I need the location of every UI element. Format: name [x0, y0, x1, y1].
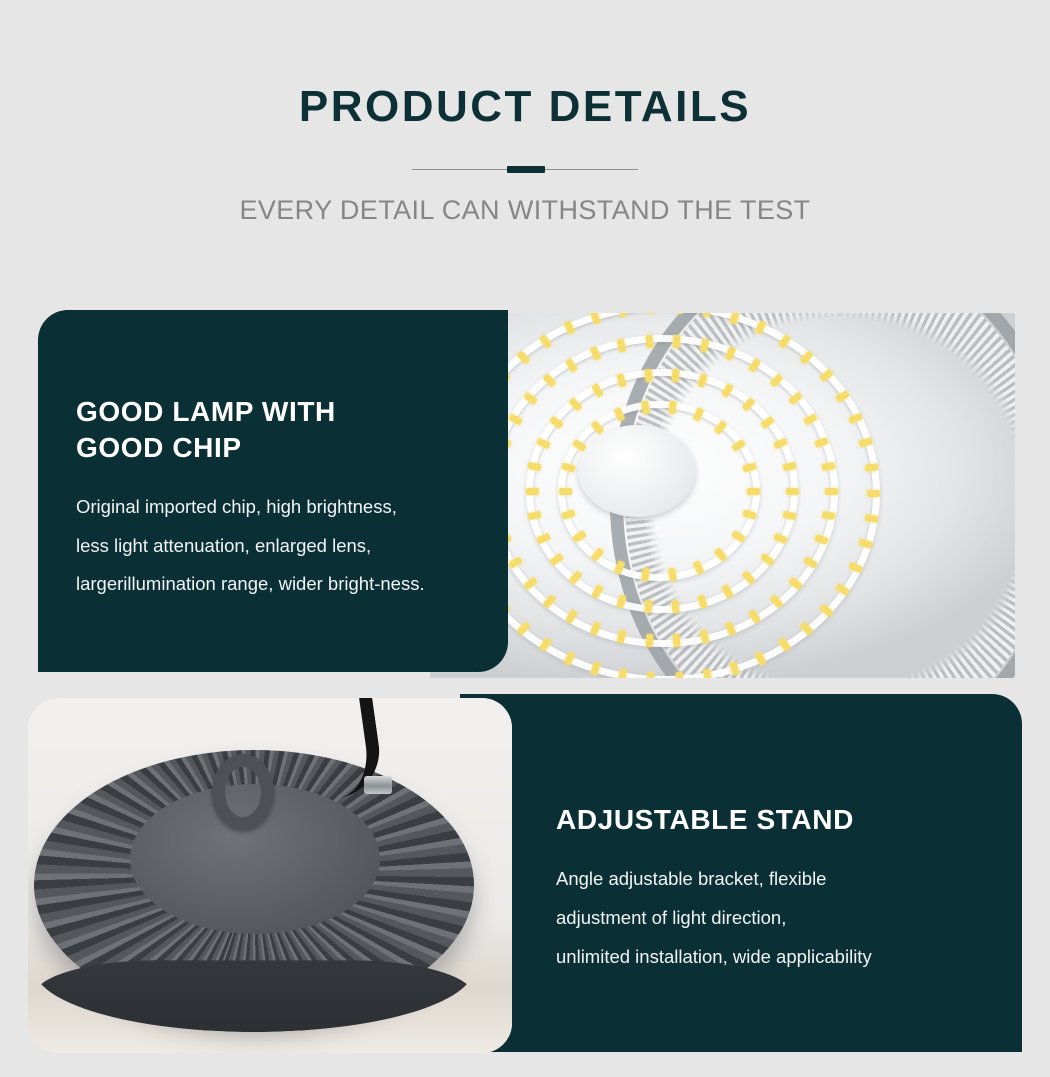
- led-lens-illustration: [430, 313, 1015, 678]
- page-header: PRODUCT DETAILS EVERY DETAIL CAN WITHSTA…: [0, 0, 1050, 227]
- led-chip-dot: [644, 600, 652, 614]
- led-chip-dot: [526, 488, 539, 495]
- led-chip-dot: [747, 488, 760, 495]
- led-chip-dot: [645, 335, 653, 349]
- page-subtitle: EVERY DETAIL CAN WITHSTAND THE TEST: [0, 194, 1050, 226]
- feature-section-adjustable-stand: ADJUSTABLE STAND Angle adjustable bracke…: [0, 690, 1050, 1055]
- feature-title: GOOD LAMP WITH GOOD CHIP: [76, 394, 508, 466]
- led-chip-dot: [825, 488, 838, 495]
- page-title: PRODUCT DETAILS: [0, 84, 1050, 130]
- led-chip-dot: [559, 488, 572, 495]
- hanging-ring-icon: [212, 754, 274, 830]
- led-chip-dot: [645, 634, 653, 648]
- feature-description: Angle adjustable bracket, flexible adjus…: [556, 860, 1022, 977]
- led-chip-dot: [786, 488, 799, 495]
- cable-gland-connector: [364, 776, 392, 794]
- heat-sink-stand-photo: [28, 698, 512, 1053]
- led-chip-dot: [675, 672, 683, 678]
- led-chip-closeup-photo: [430, 313, 1015, 678]
- feature-panel-adjustable-stand: ADJUSTABLE STAND Angle adjustable bracke…: [460, 694, 1022, 1052]
- led-chip-dot: [864, 514, 878, 523]
- divider-accent-nub: [507, 166, 545, 173]
- led-chip-dot: [671, 369, 679, 383]
- feature-title: ADJUSTABLE STAND: [556, 802, 1022, 838]
- led-center-lens: [578, 425, 696, 517]
- title-divider: [412, 164, 638, 174]
- feature-panel-good-lamp-with-good-chip: GOOD LAMP WITH GOOD CHIP Original import…: [38, 310, 508, 672]
- heat-sink-illustration: [28, 698, 512, 1053]
- led-chip-dot: [673, 634, 681, 648]
- feature-section-good-lamp-with-good-chip: GOOD LAMP WITH GOOD CHIP Original import…: [0, 310, 1050, 678]
- feature-description: Original imported chip, high brightness,…: [76, 488, 508, 605]
- led-chip-dot: [644, 369, 652, 383]
- led-chip-dot: [647, 672, 655, 678]
- led-chip-dot: [671, 600, 679, 614]
- led-chip-dot: [867, 490, 880, 497]
